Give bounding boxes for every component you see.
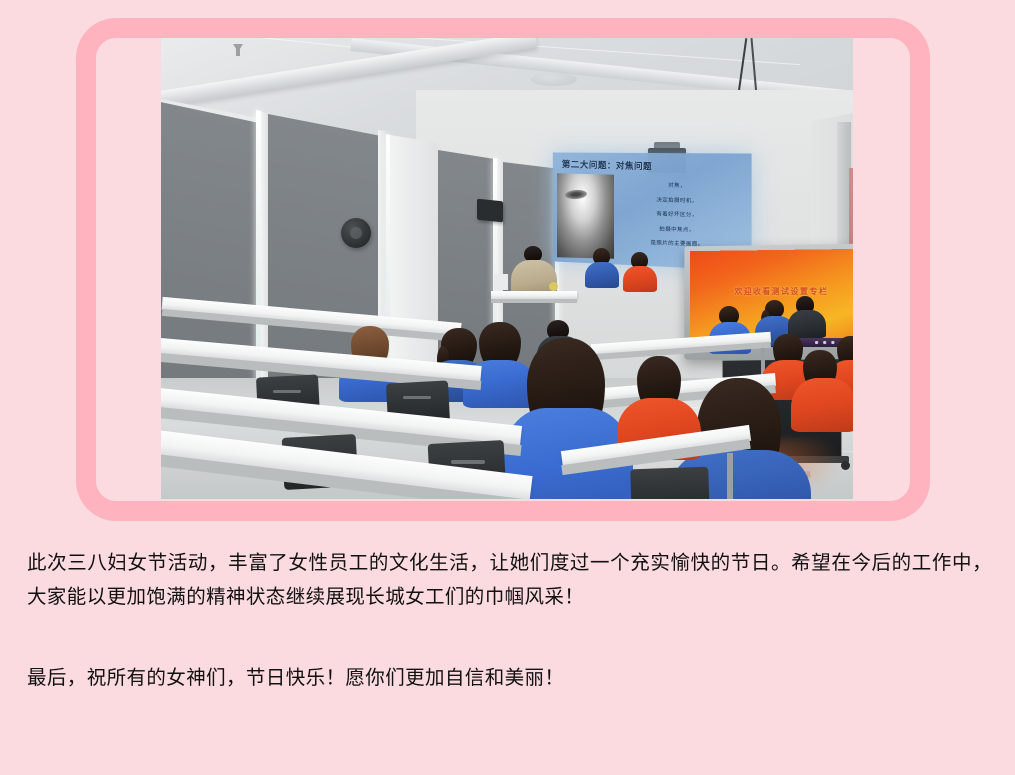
- caption-paragraph-2: 最后，祝所有的女神们，节日快乐！愿你们更加自信和美丽！: [27, 661, 992, 695]
- display-caster: [841, 461, 850, 470]
- attendee-body: [623, 266, 657, 292]
- caption-block: 此次三八妇女节活动，丰富了女性员工的文化生活，让她们度过一个充实愉快的节日。希望…: [27, 546, 992, 695]
- slide-line: 决定拍摄时机，: [631, 194, 723, 204]
- chair-slot: [273, 390, 301, 393]
- presenter-desk: [491, 291, 577, 299]
- presenter-desk-edge: [491, 299, 577, 303]
- presenter-laptop: [494, 274, 508, 290]
- classroom-chair: [630, 467, 710, 499]
- presenter-object: [549, 282, 558, 291]
- slide-line: 对焦，: [631, 180, 723, 190]
- slide-portrait-image: [557, 173, 614, 258]
- wall-speaker-left: [477, 199, 503, 223]
- desk-leg: [727, 453, 733, 499]
- display-headline: 欢迎收看测试设置专栏: [723, 286, 842, 297]
- wall-clock-face: [350, 227, 362, 239]
- chair-slot: [403, 396, 431, 399]
- attendee-body: [791, 378, 853, 432]
- ceiling-vent: [531, 73, 577, 86]
- classroom-lecture-photo: 第二大问题：对焦问题 对焦， 决定拍摄时机， 有着好坏区分， 拍摄中焦点， 是照…: [161, 38, 853, 499]
- slide-line: 有着好坏区分，: [631, 209, 723, 219]
- caption-paragraph-1: 此次三八妇女节活动，丰富了女性员工的文化生活，让她们度过一个充实愉快的节日。希望…: [27, 546, 992, 614]
- slide-body-lines: 对焦， 决定拍摄时机， 有着好坏区分， 拍摄中焦点， 是照片的主要画面。: [631, 180, 723, 255]
- slide-line: 拍摄中焦点，: [631, 223, 723, 233]
- chair-slot: [451, 460, 485, 464]
- attendee-body: [585, 262, 619, 288]
